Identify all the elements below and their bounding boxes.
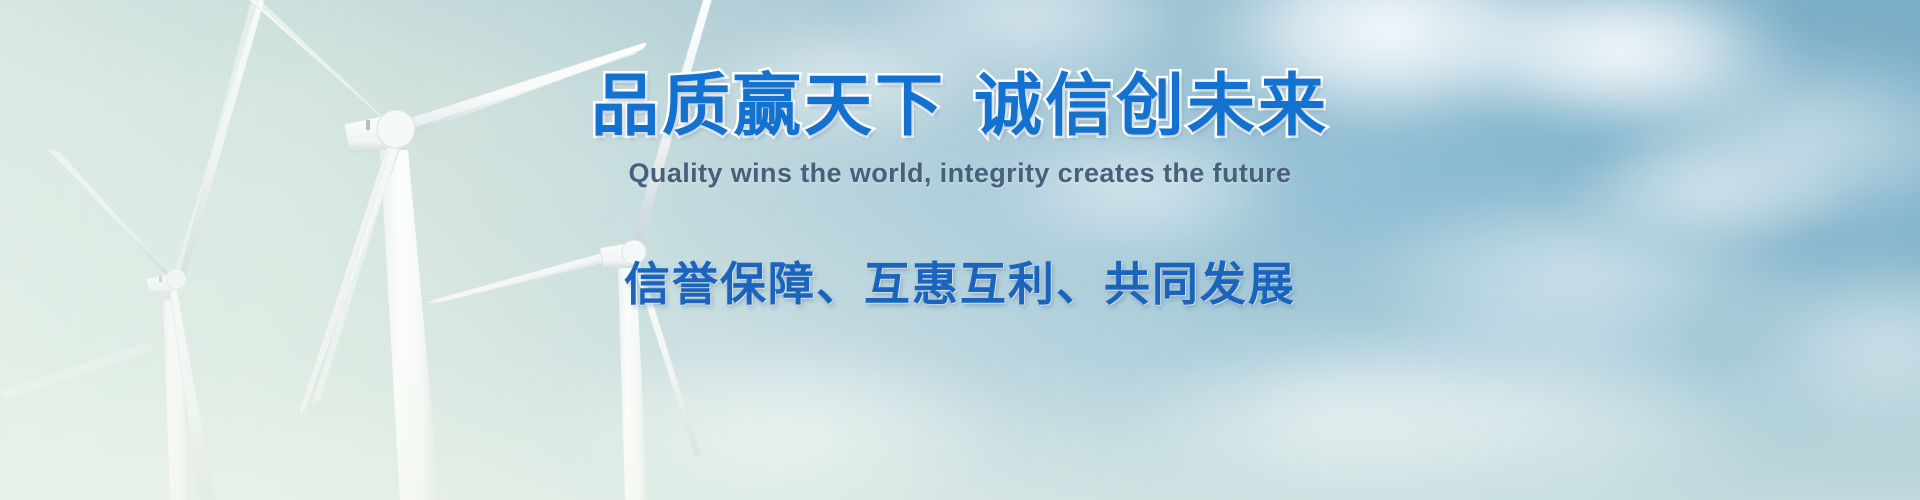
- banner-headline: 品质赢天下诚信创未来: [0, 72, 1920, 140]
- promo-banner: 品质赢天下诚信创未来 Quality wins the world, integ…: [0, 0, 1920, 500]
- headline-part-2: 诚信创未来: [974, 68, 1329, 144]
- banner-subheadline: Quality wins the world, integrity create…: [0, 158, 1920, 189]
- banner-tagline: 信誉保障、互惠互利、共同发展: [0, 248, 1920, 314]
- headline-part-1: 品质赢天下: [591, 68, 946, 144]
